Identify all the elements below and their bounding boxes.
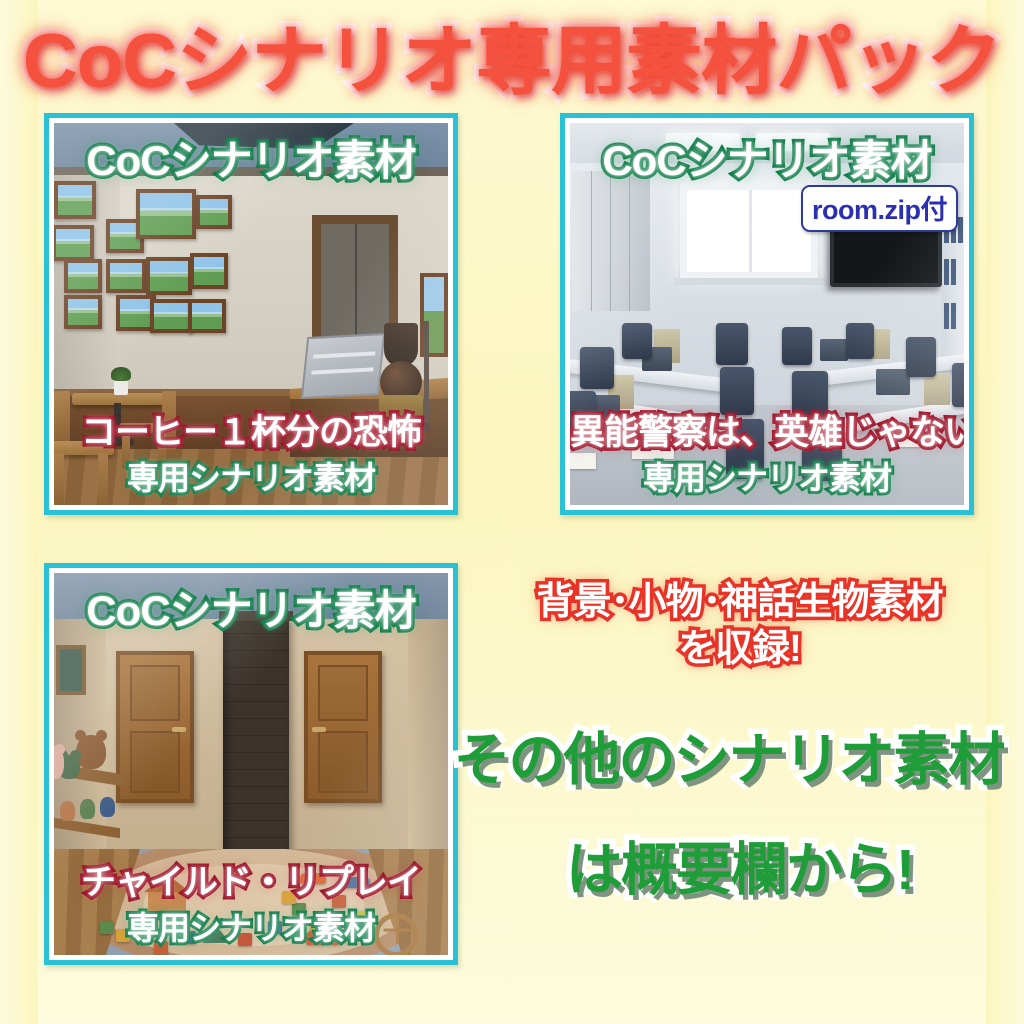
display-case [301, 333, 386, 399]
office-chair [716, 323, 748, 365]
door-handle[interactable] [172, 727, 186, 732]
locker-bank [572, 171, 650, 311]
cafe-door-seam [355, 224, 357, 338]
card-inner-frame: CoCシナリオ素材 room.zip付 異能警察は、英雄じゃない 専用シナリオ素… [565, 118, 969, 510]
card-scenario-subtitle: 専用シナリオ素材 [570, 453, 964, 499]
card-inner-frame: CoCシナリオ素材 コーヒー１杯分の恐怖 専用シナリオ素材 [49, 118, 453, 510]
office-chair [622, 323, 652, 359]
wall-photo [64, 295, 102, 329]
card-top-label: CoCシナリオ素材 [54, 127, 448, 188]
promo-red-line-2: を収録! [455, 627, 1024, 672]
plush-doll [100, 797, 115, 817]
wall-photo [190, 253, 228, 289]
scenario-card-police[interactable]: CoCシナリオ素材 room.zip付 異能警察は、英雄じゃない 専用シナリオ素… [560, 113, 974, 515]
page-title: CoCシナリオ専用素材パック [23, 0, 1001, 109]
wall-photo [136, 189, 196, 239]
laptop [820, 339, 848, 361]
card-inner-frame: CoCシナリオ素材 チャイルド・リプレイ 専用シナリオ素材 [49, 568, 453, 960]
card-top-label: CoCシナリオ素材 [570, 127, 964, 188]
scenario-card-coffee[interactable]: CoCシナリオ素材 コーヒー１杯分の恐怖 専用シナリオ素材 [44, 113, 458, 515]
file-box [924, 373, 950, 405]
office-window [680, 183, 818, 279]
cafe-interior-scene: CoCシナリオ素材 コーヒー１杯分の恐怖 専用シナリオ素材 [54, 123, 448, 505]
wall-photo [146, 257, 192, 295]
card-scenario-subtitle: 専用シナリオ素材 [54, 453, 448, 499]
office-chair [580, 347, 614, 389]
poster-header: CoCシナリオ専用素材パック [0, 4, 1024, 104]
wall-photo [106, 259, 146, 293]
wall-photo [64, 259, 102, 293]
table-plant [114, 379, 128, 395]
office-chair [952, 363, 964, 407]
office-chair [782, 327, 812, 365]
card-scenario-title: 異能警察は、英雄じゃない [570, 404, 964, 455]
window-sill [674, 278, 826, 285]
plush-bear [76, 735, 106, 769]
promo-green-line-1: その他のシナリオ素材 [433, 714, 1024, 796]
promo-green-line-2: は概要欄から! [455, 824, 1024, 906]
wall-photo [150, 299, 192, 333]
office-chair [906, 337, 936, 377]
plush-doll [80, 799, 95, 819]
playroom-door-right[interactable] [304, 651, 382, 803]
card-scenario-title: チャイルド・リプレイ [54, 854, 448, 905]
poster-canvas: CoCシナリオ専用素材パック [0, 0, 1024, 1024]
plush-doll [60, 801, 75, 821]
playroom-interior-scene: CoCシナリオ素材 チャイルド・リプレイ 専用シナリオ素材 [54, 573, 448, 955]
wall-photo [54, 225, 94, 261]
playroom-door-left[interactable] [116, 651, 194, 803]
door-handle[interactable] [312, 727, 326, 732]
wall-frame [56, 645, 86, 695]
wall-photo [188, 299, 226, 333]
wall-photo [196, 195, 232, 229]
office-chair [846, 323, 874, 359]
office-interior-scene: CoCシナリオ素材 room.zip付 異能警察は、英雄じゃない 専用シナリオ素… [570, 123, 964, 505]
card-top-label: CoCシナリオ素材 [54, 577, 448, 638]
promo-red-line-1: 背景･小物･神話生物素材 [455, 580, 1024, 625]
scenario-card-child[interactable]: CoCシナリオ素材 チャイルド・リプレイ 専用シナリオ素材 [44, 563, 458, 965]
card-scenario-title: コーヒー１杯分の恐怖 [54, 404, 448, 455]
card-scenario-subtitle: 専用シナリオ素材 [54, 903, 448, 949]
background-edge-left [0, 0, 38, 1024]
promo-text-block: 背景･小物･神話生物素材 を収録! その他のシナリオ素材 は概要欄から! [455, 580, 1024, 910]
laptop [876, 369, 910, 395]
brick-pillar [223, 617, 289, 879]
zip-attachment-badge: room.zip付 [801, 185, 958, 232]
